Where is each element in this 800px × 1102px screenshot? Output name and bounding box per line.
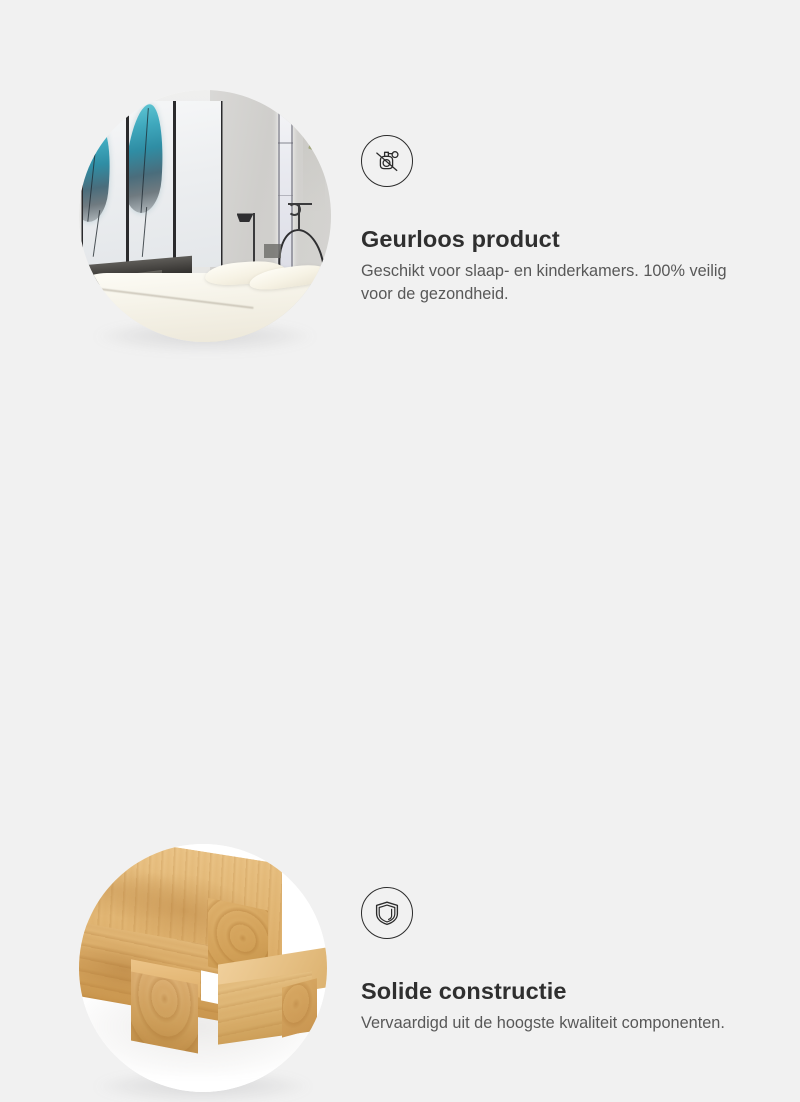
right-beam-end-grain <box>282 978 317 1037</box>
front-cube-end-grain <box>131 971 198 1053</box>
feature-description: Geschikt voor slaap- en kinderkamers. 10… <box>361 260 743 307</box>
canvas-panel-right <box>176 101 221 267</box>
shield-icon <box>361 887 413 939</box>
feature-image-bedroom-with-feather-canvas <box>79 90 331 342</box>
circular-image-mask <box>79 90 331 342</box>
no-perfume-icon <box>361 135 413 187</box>
canvas-panel-middle <box>129 101 174 267</box>
lamp-pole <box>253 213 255 265</box>
feather-quill <box>142 207 148 257</box>
feature-highlights-page: Geurloos product Geschikt voor slaap- en… <box>0 0 800 800</box>
feature-description: Vervaardigd uit de hoogste kwaliteit com… <box>361 1012 743 1035</box>
feature-image-wooden-beams <box>79 844 327 1092</box>
feature-block-solid-construction: Solide constructie Vervaardigd uit de ho… <box>0 400 800 800</box>
canvas-panel-left <box>83 113 126 268</box>
feature-heading: Geurloos product <box>361 226 761 253</box>
feather-graphic <box>83 124 115 223</box>
circular-image-mask <box>79 844 327 1092</box>
feature-text-solid-construction: Solide constructie Vervaardigd uit de ho… <box>361 887 761 1035</box>
wooden-beams-scene <box>79 844 327 1092</box>
bedroom-scene <box>79 90 331 342</box>
bed <box>79 261 331 342</box>
feather-shaft <box>140 109 149 214</box>
feather-shaft <box>87 130 98 222</box>
night-stand <box>264 244 281 258</box>
feather-canvas-triptych <box>82 98 226 274</box>
feature-text-odourless-product: Geurloos product Geschikt voor slaap- en… <box>361 135 761 307</box>
feather-graphic <box>129 103 168 215</box>
feature-heading: Solide constructie <box>361 978 761 1005</box>
feature-block-odourless-product: Geurloos product Geschikt voor slaap- en… <box>0 0 800 400</box>
